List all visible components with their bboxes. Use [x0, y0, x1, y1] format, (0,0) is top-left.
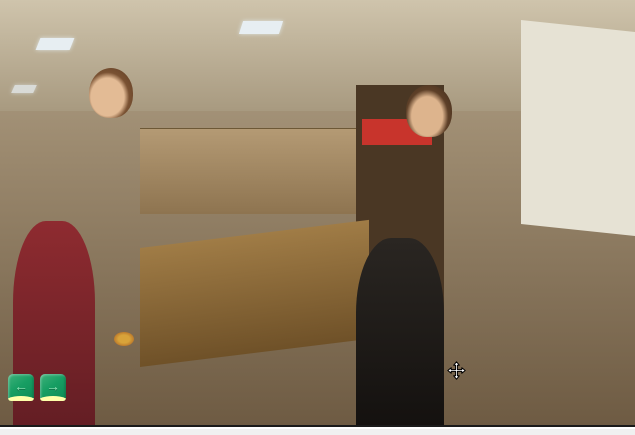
arrow-left-icon: ←	[8, 379, 34, 393]
classroom-video-still[interactable]	[0, 0, 198, 146]
presentation-slide: http://en.wikipedia.org/wiki/File:Luna_P…	[0, 0, 635, 427]
back-button[interactable]: ←	[8, 374, 34, 401]
forward-button[interactable]: →	[40, 374, 66, 401]
slide-navigation: ← →	[8, 374, 66, 401]
wall-cabinets	[140, 128, 198, 147]
ceiling-light	[36, 38, 75, 50]
arrow-right-icon: →	[40, 379, 66, 393]
ceiling-light	[11, 85, 37, 93]
below-slide-strip	[0, 429, 635, 435]
person-left-head	[89, 68, 133, 118]
move-cursor	[447, 361, 466, 380]
